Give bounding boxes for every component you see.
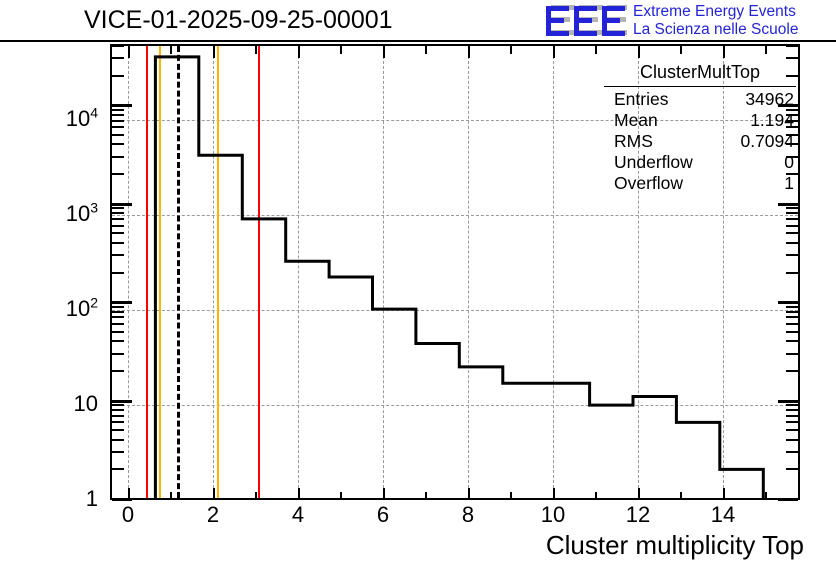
stats-value: 0 [784, 152, 794, 173]
ytick-label-1000: 103 [28, 201, 98, 227]
stats-row: Overflow 1 [604, 173, 796, 194]
stats-box: ClusterMultTop Entries 34962 Mean 1.194 … [604, 62, 796, 196]
ytick-label-1: 1 [38, 486, 98, 512]
stats-row: Mean 1.194 [604, 110, 796, 131]
stats-value: 1 [784, 173, 794, 194]
stats-key: RMS [614, 131, 653, 152]
stats-key: Underflow [614, 152, 693, 173]
stats-row: Entries 34962 [604, 89, 796, 110]
stats-row: Underflow 0 [604, 152, 796, 173]
x-axis-title: Cluster multiplicity Top [546, 530, 804, 561]
stats-value: 1.194 [750, 110, 794, 131]
xtick-label-14: 14 [703, 502, 743, 528]
stats-row: RMS 0.7094 [604, 131, 796, 152]
xtick-label-8: 8 [448, 502, 488, 528]
ytick-label-10: 10 [38, 391, 98, 417]
xtick-label-0: 0 [108, 502, 148, 528]
xtick-label-6: 6 [363, 502, 403, 528]
ytick-label-10000: 104 [28, 106, 98, 132]
xtick-label-12: 12 [618, 502, 658, 528]
ytick-label-100: 102 [28, 296, 98, 322]
xtick-label-2: 2 [193, 502, 233, 528]
xtick-label-10: 10 [533, 502, 573, 528]
root-histogram-canvas: VICE-01-2025-09-25-00001 Extreme Energy … [0, 0, 836, 572]
xtick-label-4: 4 [278, 502, 318, 528]
stats-value: 34962 [745, 89, 794, 110]
stats-key: Overflow [614, 173, 683, 194]
stats-key: Entries [614, 89, 668, 110]
stats-value: 0.7094 [740, 131, 794, 152]
stats-title: ClusterMultTop [604, 62, 796, 87]
stats-key: Mean [614, 110, 658, 131]
